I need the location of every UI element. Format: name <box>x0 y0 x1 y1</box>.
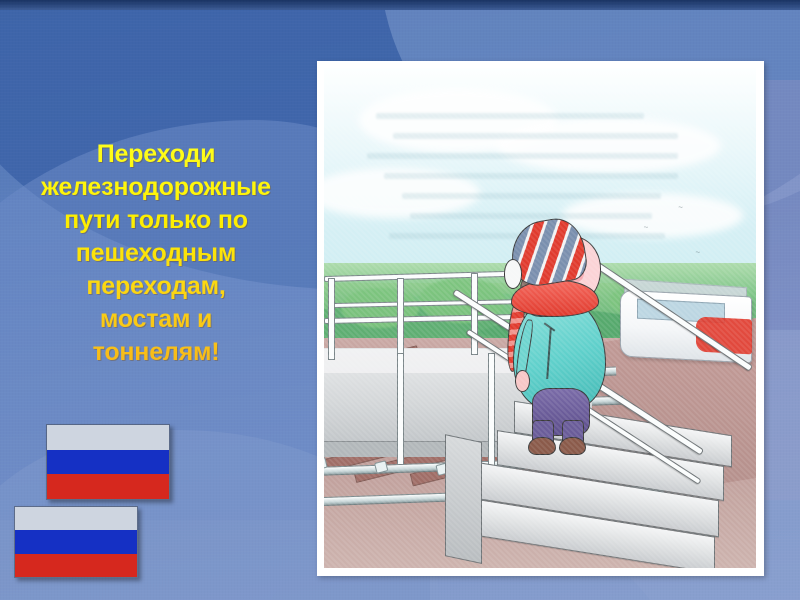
russian-flag-lower <box>14 506 138 578</box>
child-figure <box>497 218 614 448</box>
child-scarf <box>511 280 599 317</box>
headline-line-5: переходам, <box>0 270 312 303</box>
railing-post <box>471 273 478 355</box>
headline-line-3: пути только по <box>0 204 312 237</box>
headline-line-2: железнодорожные <box>0 171 312 204</box>
slide-canvas: Переходи железнодорожные пути только по … <box>0 0 800 600</box>
flag-stripe-red <box>47 474 169 499</box>
page-title: Переходи железнодорожные пути только по … <box>0 138 312 369</box>
railing-post-lower <box>397 353 404 465</box>
illustration-canvas: ~ ~ ~ <box>324 68 756 568</box>
headline-line-4: пешеходным <box>0 237 312 270</box>
stair-side-wall <box>445 434 482 564</box>
flag-stripe-blue <box>15 530 137 553</box>
bird-silhouette: ~ <box>696 248 701 257</box>
flag-stripe-red <box>15 554 137 577</box>
bird-silhouette: ~ <box>678 203 683 212</box>
headline-line-1: Переходи <box>0 138 312 171</box>
flag-stripe-white <box>15 507 137 530</box>
top-navy-band <box>0 0 800 10</box>
headline-line-7: тоннелям! <box>0 336 312 369</box>
railing-post-lower <box>488 353 495 475</box>
russian-flag-upper <box>46 424 170 500</box>
bird-silhouette: ~ <box>644 223 649 232</box>
ghost-text-line <box>367 153 678 159</box>
child-shoe-left <box>528 437 556 455</box>
child-shoe-right <box>559 437 587 455</box>
flag-stripe-white <box>47 425 169 450</box>
railing-post <box>328 278 335 360</box>
hat-pompom <box>504 259 522 289</box>
ghost-text-line <box>384 173 678 179</box>
pedestrian-railway-bridge-illustration: ~ ~ ~ <box>317 61 764 576</box>
headline-line-6: мостам и <box>0 303 312 336</box>
flag-stripe-blue <box>47 450 169 475</box>
ghost-text-line <box>393 133 678 139</box>
ghost-text-line <box>402 193 661 199</box>
ghost-text-line <box>376 113 644 119</box>
railing-post <box>397 278 404 360</box>
cloud <box>497 118 722 173</box>
